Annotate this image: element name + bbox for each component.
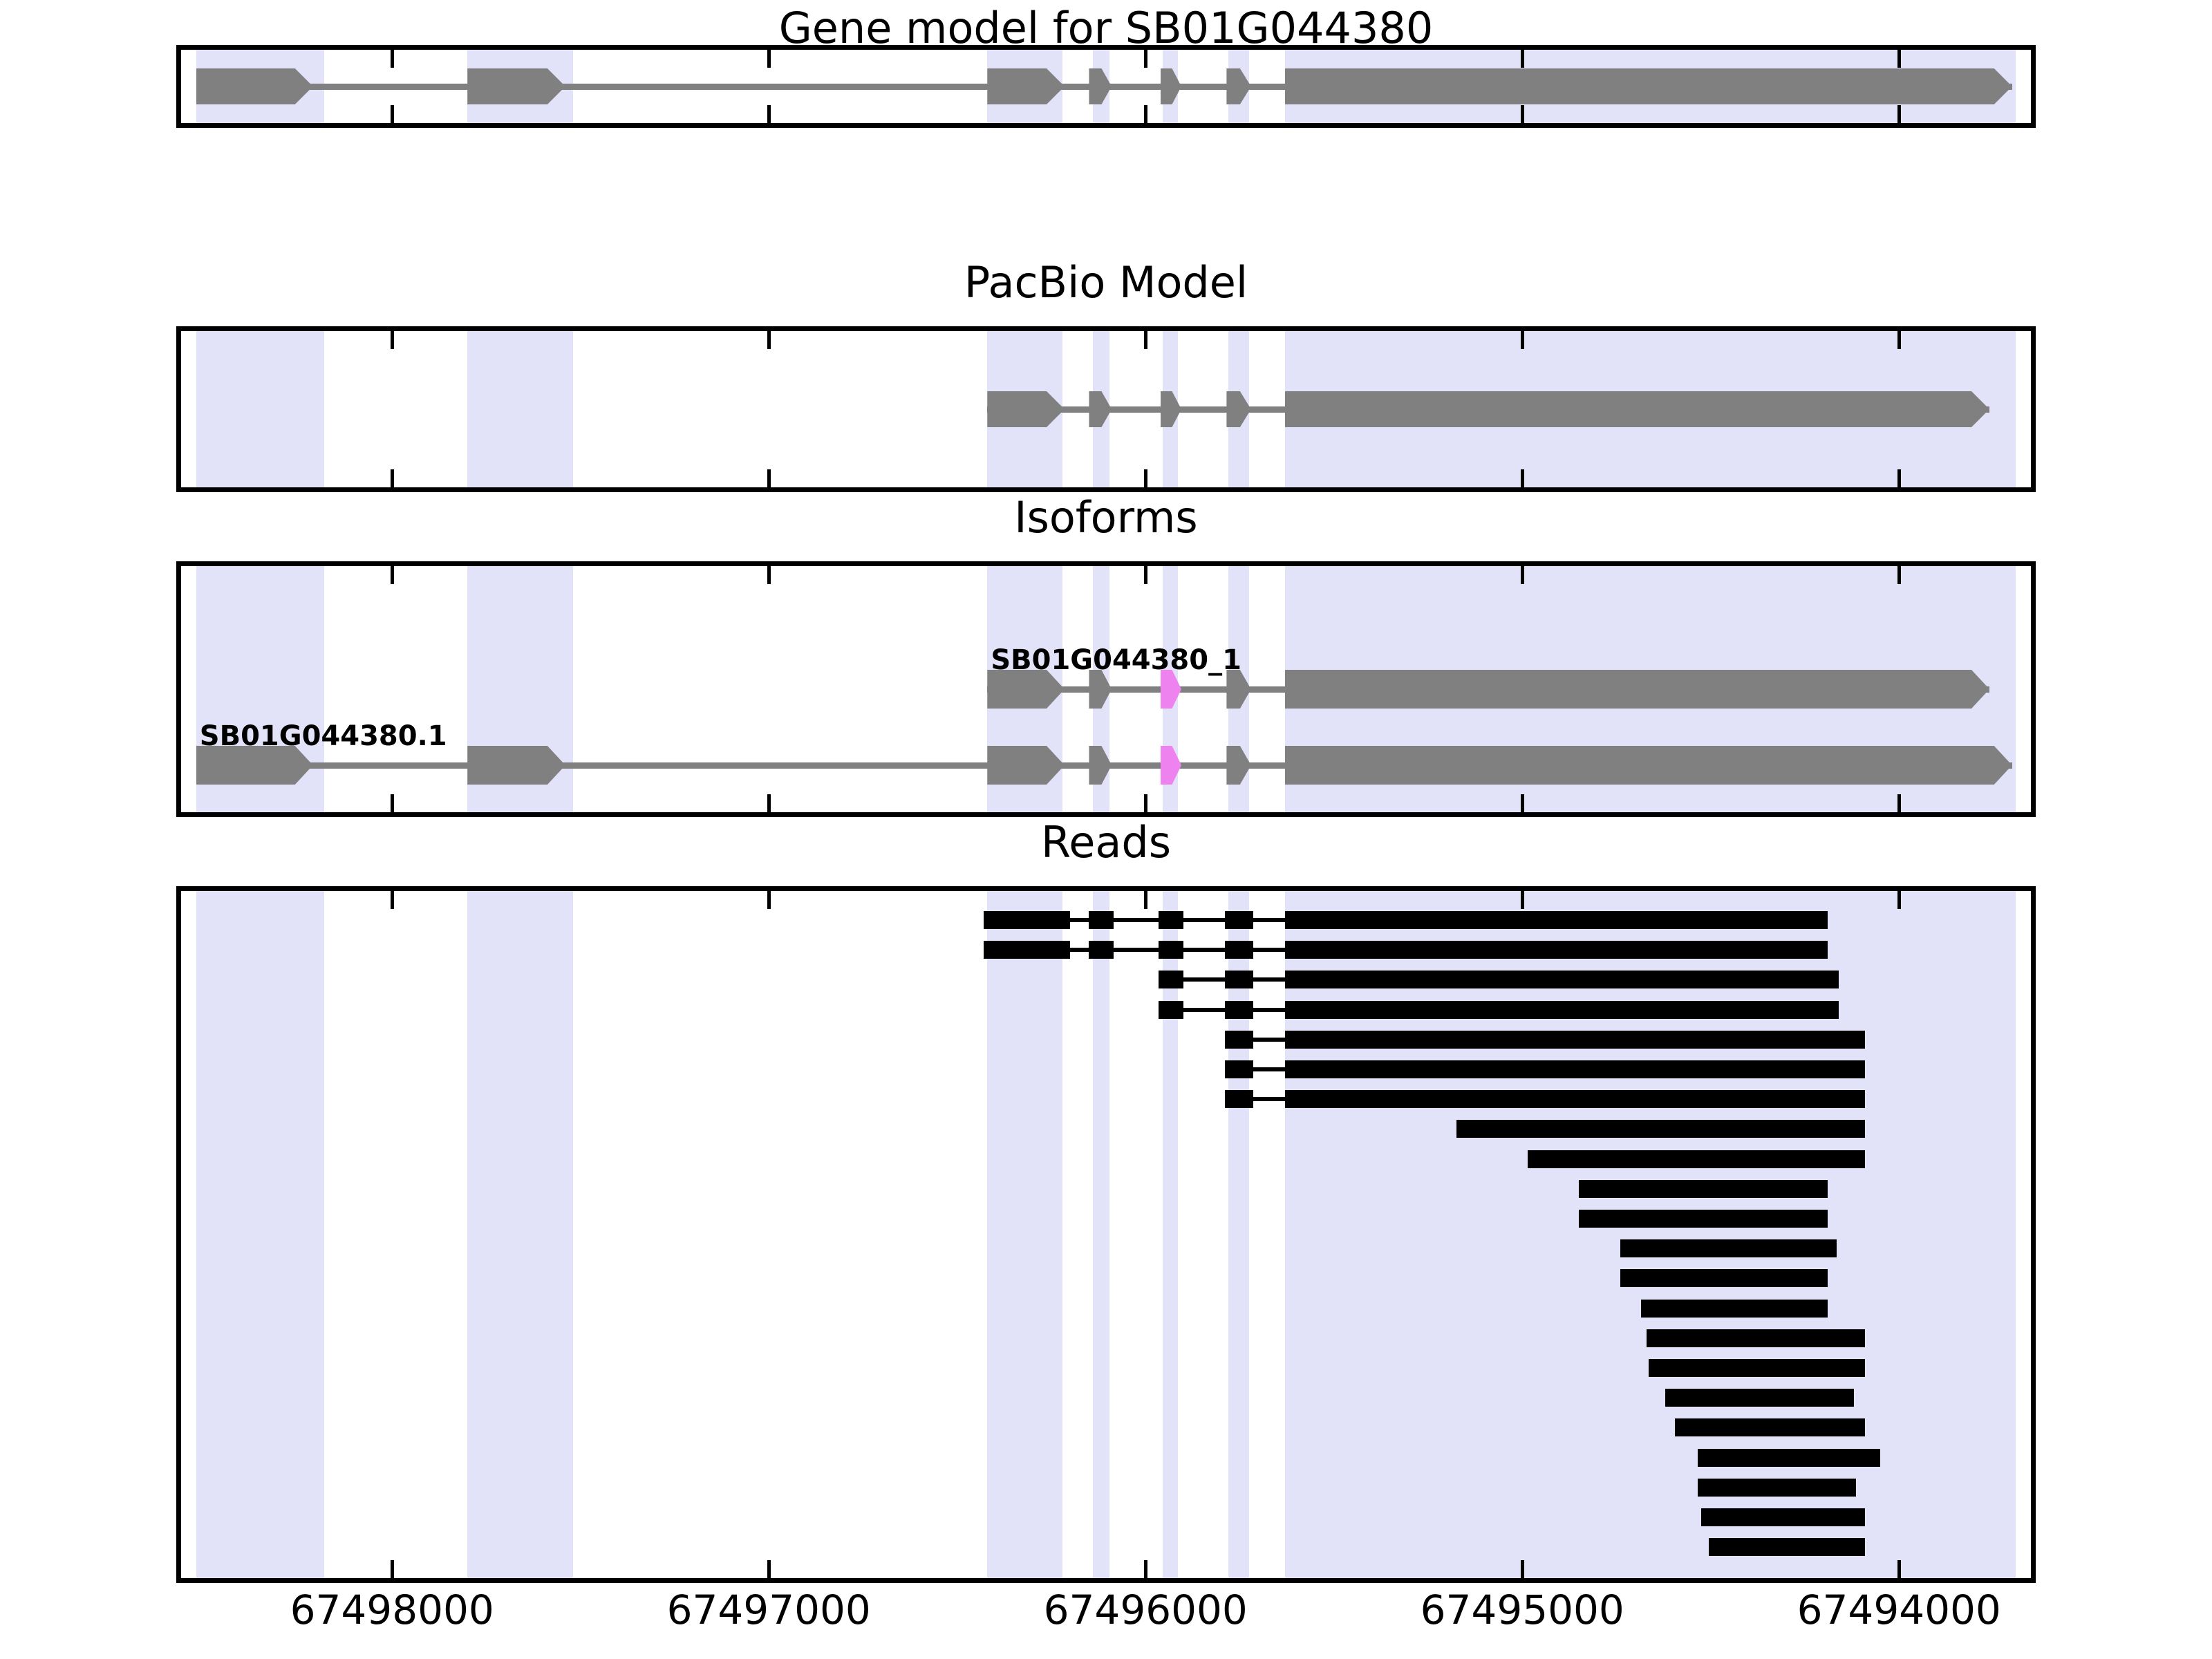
isoform-2-exon-1[interactable] [467, 746, 565, 785]
read-row-2-block-4[interactable] [1285, 941, 1828, 959]
read-row-15-block-0[interactable] [1647, 1329, 1865, 1347]
read-row-5-block-1[interactable] [1285, 1031, 1865, 1049]
read-row-2-block-1[interactable] [1089, 941, 1113, 959]
highlight-band-0 [196, 891, 324, 1578]
read-row-18-block-0[interactable] [1675, 1418, 1865, 1436]
tick-bottom-0 [391, 1560, 394, 1578]
gene-model-transcript-exon-0[interactable] [196, 68, 313, 104]
tick-top-4 [1897, 891, 1901, 909]
read-row-1-block-2[interactable] [1159, 911, 1183, 929]
tick-bottom-3 [1521, 105, 1524, 123]
panel-reads-plot [181, 891, 2031, 1578]
tick-bottom-4 [1897, 794, 1901, 812]
gene-model-transcript-exon-6[interactable] [1285, 68, 2012, 104]
tick-top-1 [767, 566, 771, 584]
read-row-21-block-0[interactable] [1701, 1508, 1865, 1526]
tick-top-0 [391, 566, 394, 584]
highlight-band-0 [196, 331, 324, 487]
panel-pacbio-model-plot [181, 331, 2031, 487]
highlight-band-1 [467, 331, 573, 487]
panel-reads[interactable] [176, 886, 2036, 1583]
tick-top-2 [1144, 331, 1147, 349]
tick-bottom-3 [1521, 794, 1524, 812]
tick-bottom-2 [1144, 469, 1147, 487]
read-row-2-block-2[interactable] [1159, 941, 1183, 959]
pacbio-transcript-exon-2[interactable] [1161, 391, 1181, 427]
read-row-13-block-0[interactable] [1620, 1269, 1828, 1287]
read-row-7-block-0[interactable] [1225, 1090, 1253, 1108]
tick-bottom-1 [767, 469, 771, 487]
read-row-2-block-3[interactable] [1225, 941, 1253, 959]
isoform-label-1: SB01G044380_1 [991, 646, 1241, 674]
read-row-22-block-0[interactable] [1709, 1538, 1865, 1556]
panel-title-gene-model: Gene model for SB01G044380 [0, 7, 2212, 50]
highlight-band-3 [1093, 891, 1110, 1578]
tick-bottom-1 [767, 1560, 771, 1578]
figure-root: Gene model for SB01G044380 PacBio Model … [0, 0, 2212, 1659]
tick-bottom-0 [391, 105, 394, 123]
panel-pacbio-model[interactable] [176, 326, 2036, 492]
highlight-band-2 [987, 891, 1062, 1578]
read-row-2-block-0[interactable] [984, 941, 1070, 959]
panel-isoforms-plot: SB01G044380_1SB01G044380.1 [181, 566, 2031, 812]
gene-model-transcript-exon-4[interactable] [1161, 68, 1181, 104]
tick-bottom-3 [1521, 1560, 1524, 1578]
tick-top-2 [1144, 50, 1147, 68]
panel-gene-model-plot [181, 50, 2031, 123]
tick-bottom-4 [1897, 1560, 1901, 1578]
tick-top-0 [391, 50, 394, 68]
x-tick-label-2: 67496000 [1044, 1590, 1248, 1630]
tick-bottom-4 [1897, 105, 1901, 123]
read-row-8-block-0[interactable] [1456, 1120, 1865, 1138]
isoform-2-exon-6[interactable] [1285, 746, 2012, 785]
read-row-16-block-0[interactable] [1649, 1359, 1865, 1377]
read-row-5-block-0[interactable] [1225, 1031, 1253, 1049]
isoform-2-exon-4[interactable] [1161, 746, 1181, 785]
tick-bottom-4 [1897, 469, 1901, 487]
highlight-band-5 [1228, 891, 1249, 1578]
tick-bottom-0 [391, 794, 394, 812]
read-row-3-block-0[interactable] [1159, 971, 1183, 988]
x-tick-label-4: 67494000 [1797, 1590, 2001, 1630]
read-row-10-block-0[interactable] [1579, 1180, 1828, 1198]
isoform-label-2: SB01G044380.1 [200, 722, 447, 750]
read-row-11-block-0[interactable] [1579, 1210, 1828, 1228]
read-row-3-block-2[interactable] [1285, 971, 1839, 988]
tick-top-1 [767, 331, 771, 349]
read-row-4-block-0[interactable] [1159, 1001, 1183, 1019]
tick-top-1 [767, 50, 771, 68]
x-tick-label-3: 67495000 [1421, 1590, 1624, 1630]
tick-bottom-1 [767, 794, 771, 812]
read-row-6-block-1[interactable] [1285, 1060, 1865, 1078]
tick-top-2 [1144, 891, 1147, 909]
tick-bottom-1 [767, 105, 771, 123]
read-row-1-block-4[interactable] [1285, 911, 1828, 929]
tick-top-4 [1897, 566, 1901, 584]
highlight-band-1 [467, 891, 573, 1578]
read-row-20-block-0[interactable] [1698, 1479, 1856, 1497]
panel-gene-model[interactable] [176, 45, 2036, 128]
read-row-6-block-0[interactable] [1225, 1060, 1253, 1078]
tick-bottom-0 [391, 469, 394, 487]
gene-model-transcript-exon-1[interactable] [467, 68, 565, 104]
read-row-19-block-0[interactable] [1698, 1449, 1880, 1467]
highlight-band-6 [1285, 891, 2016, 1578]
read-row-9-block-0[interactable] [1528, 1150, 1865, 1168]
read-row-4-block-1[interactable] [1225, 1001, 1253, 1019]
tick-top-4 [1897, 50, 1901, 68]
tick-bottom-2 [1144, 1560, 1147, 1578]
read-row-4-block-2[interactable] [1285, 1001, 1839, 1019]
panel-title-pacbio-model: PacBio Model [0, 261, 2212, 304]
tick-top-0 [391, 891, 394, 909]
read-row-1-block-1[interactable] [1089, 911, 1113, 929]
read-row-1-block-0[interactable] [984, 911, 1070, 929]
tick-top-0 [391, 331, 394, 349]
tick-top-3 [1521, 566, 1524, 584]
read-row-3-block-1[interactable] [1225, 971, 1253, 988]
tick-top-2 [1144, 566, 1147, 584]
tick-bottom-2 [1144, 105, 1147, 123]
tick-top-1 [767, 891, 771, 909]
tick-top-3 [1521, 50, 1524, 68]
tick-bottom-2 [1144, 794, 1147, 812]
read-row-1-block-3[interactable] [1225, 911, 1253, 929]
tick-bottom-3 [1521, 469, 1524, 487]
tick-top-4 [1897, 331, 1901, 349]
pacbio-transcript-exon-4[interactable] [1285, 391, 1989, 427]
highlight-band-4 [1163, 891, 1178, 1578]
read-row-17-block-0[interactable] [1665, 1389, 1854, 1407]
panel-title-isoforms: Isoforms [0, 496, 2212, 539]
tick-top-3 [1521, 331, 1524, 349]
panel-isoforms[interactable]: SB01G044380_1SB01G044380.1 [176, 561, 2036, 817]
read-row-7-block-1[interactable] [1285, 1090, 1865, 1108]
x-tick-label-1: 67497000 [667, 1590, 871, 1630]
x-tick-label-0: 67498000 [290, 1590, 494, 1630]
panel-title-reads: Reads [0, 821, 2212, 864]
read-row-14-block-0[interactable] [1641, 1300, 1828, 1318]
tick-top-3 [1521, 891, 1524, 909]
isoform-1-exon-4[interactable] [1285, 670, 1989, 709]
read-row-12-block-0[interactable] [1620, 1239, 1837, 1257]
